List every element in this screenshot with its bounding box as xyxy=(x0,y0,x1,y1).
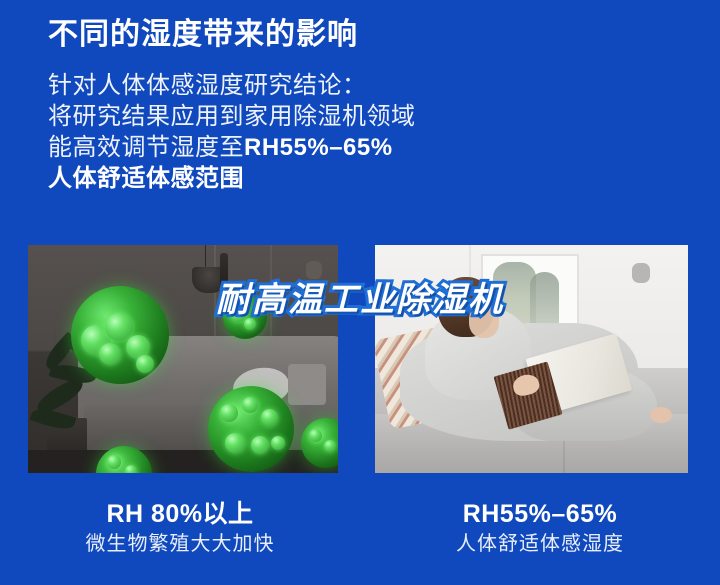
header-text-block: 不同的湿度带来的影响 针对人体体感湿度研究结论： 将研究结果应用到家用除湿机领域… xyxy=(48,14,688,194)
sofa-pillow xyxy=(288,364,325,405)
photo-high-humidity xyxy=(28,245,338,473)
humidity-comparison-poster: 不同的湿度带来的影响 针对人体体感湿度研究结论： 将研究结果应用到家用除湿机领域… xyxy=(0,0,720,585)
bright-room-scene xyxy=(375,245,688,473)
microbe-bud xyxy=(242,397,258,413)
body-line-3: 能高效调节湿度至RH55%–65% xyxy=(48,132,688,163)
microbe-bud xyxy=(309,429,322,442)
body-line-1: 针对人体体感湿度研究结论： xyxy=(48,70,688,101)
caption-sub-label: 人体舒适体感湿度 xyxy=(360,530,720,558)
photo-row xyxy=(0,245,720,473)
body-line-3-prefix: 能高效调节湿度至 xyxy=(48,134,244,161)
caption-sub-label: 微生物繁殖大大加快 xyxy=(0,530,360,558)
microbe-bud xyxy=(225,433,245,453)
body-paragraph: 针对人体体感湿度研究结论： 将研究结果应用到家用除湿机领域 能高效调节湿度至RH… xyxy=(48,70,688,194)
caption-main-label: RH55%–65% xyxy=(360,498,720,530)
caption-comfort-humidity: RH55%–65% 人体舒适体感湿度 xyxy=(360,498,720,558)
microbe-sphere xyxy=(223,295,267,339)
microbe-bud xyxy=(136,355,154,373)
wall-seam-secondary xyxy=(270,245,272,350)
person-face xyxy=(469,304,499,338)
microbe-bud xyxy=(271,436,285,450)
microbe-bud xyxy=(324,440,336,452)
pendant-lamp-secondary xyxy=(220,253,228,297)
microbe-sphere xyxy=(208,386,294,472)
microbe-bud xyxy=(107,455,121,469)
microbe-bud xyxy=(244,318,256,330)
microbe-bud xyxy=(220,404,238,422)
photo-comfort-humidity xyxy=(375,245,688,473)
microbe-bud xyxy=(125,465,137,473)
wall-knob xyxy=(306,261,322,279)
dark-room-scene xyxy=(28,245,338,473)
microbe-bud xyxy=(105,313,133,341)
body-line-4: 人体舒适体感范围 xyxy=(48,163,688,194)
floor xyxy=(28,450,338,473)
microbe-sphere xyxy=(71,286,169,384)
microbe-bud xyxy=(261,409,278,426)
caption-row: RH 80%以上 微生物繁殖大大加快 RH55%–65% 人体舒适体感湿度 xyxy=(0,498,720,578)
caption-high-humidity: RH 80%以上 微生物繁殖大大加快 xyxy=(0,498,360,558)
microbe-bud xyxy=(99,343,121,365)
humidity-range-accent: RH55%–65% xyxy=(244,134,393,161)
body-line-2: 将研究结果应用到家用除湿机领域 xyxy=(48,101,688,132)
person-foot xyxy=(650,407,672,423)
wall-seam xyxy=(214,245,216,350)
microbe-bud xyxy=(231,308,245,322)
wall-knob xyxy=(632,263,650,283)
caption-main-label: RH 80%以上 xyxy=(0,498,360,530)
page-title: 不同的湿度带来的影响 xyxy=(48,14,688,56)
microbe-bud xyxy=(251,436,269,454)
